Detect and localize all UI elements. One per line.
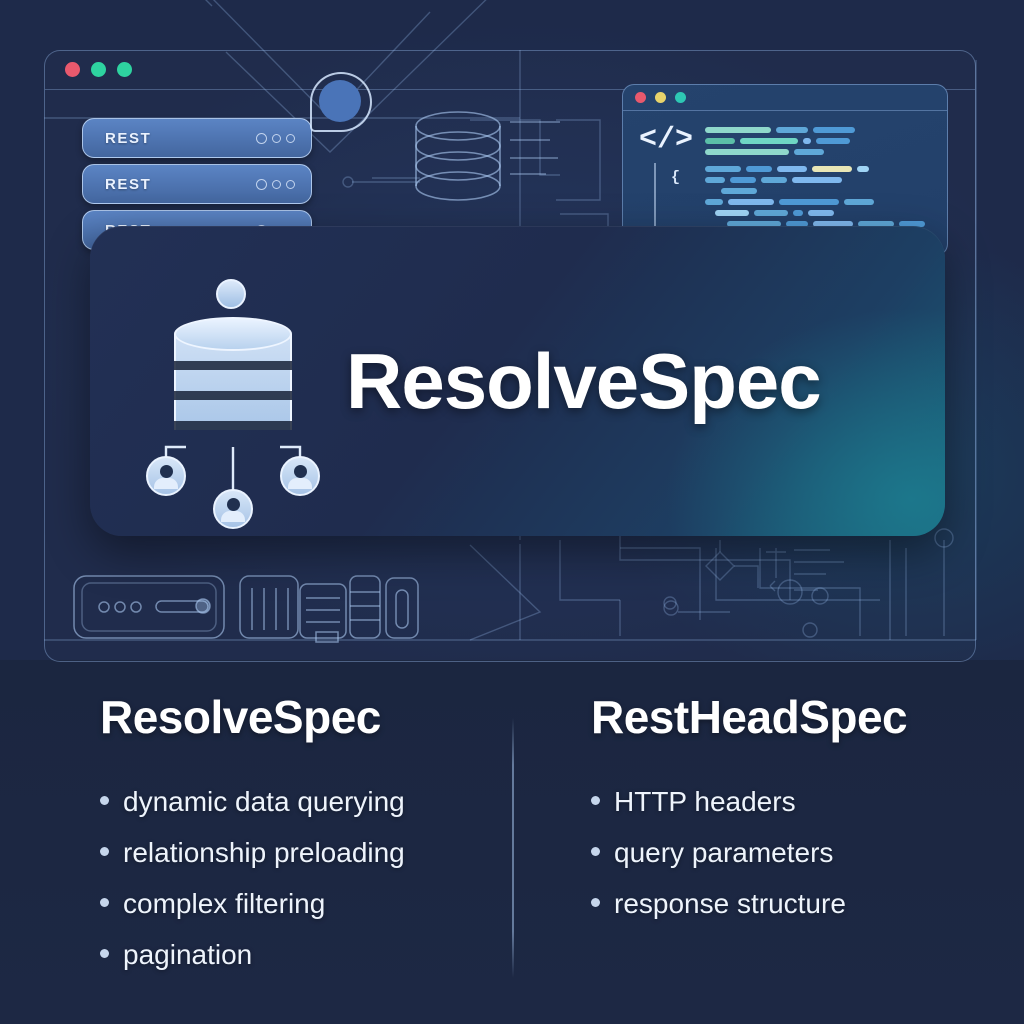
- rest-pill-2[interactable]: REST: [82, 164, 312, 204]
- code-window-titlebar: [623, 85, 947, 111]
- server-rack-wireframe: [72, 572, 432, 662]
- rest-pill-label: REST: [105, 130, 151, 147]
- code-brace-icon: {: [671, 169, 680, 186]
- bullet-icon: [100, 796, 109, 805]
- list-item: dynamic data querying: [100, 786, 533, 818]
- code-line: [715, 210, 937, 216]
- cylinder-band: [174, 361, 292, 370]
- minimize-button-dot[interactable]: [655, 92, 666, 103]
- maximize-button-dot[interactable]: [675, 92, 686, 103]
- user-node-icon: [146, 456, 186, 496]
- feature-list-left: dynamic data querying relationship prelo…: [100, 786, 533, 971]
- code-line: [705, 166, 937, 172]
- close-button-dot[interactable]: [65, 62, 80, 77]
- column-heading-right: RestHeadSpec: [591, 690, 1024, 744]
- list-item: complex filtering: [100, 888, 533, 920]
- bullet-icon: [591, 796, 600, 805]
- feature-label: complex filtering: [123, 888, 325, 920]
- close-button-dot[interactable]: [635, 92, 646, 103]
- cylinder-top-disc: [174, 317, 292, 351]
- column-heading-left: ResolveSpec: [100, 690, 533, 744]
- rest-pill-icons: [256, 179, 295, 190]
- circle-icon: [256, 179, 267, 190]
- page-title: ResolveSpec: [346, 342, 821, 420]
- feature-column-restheadspec: RestHeadSpec HTTP headers query paramete…: [533, 690, 1024, 1024]
- chat-bubble-icon: [310, 72, 372, 132]
- logo-top-node: [216, 279, 246, 309]
- database-network-logo: [112, 251, 352, 511]
- list-item: pagination: [100, 939, 533, 971]
- feature-label: pagination: [123, 939, 252, 971]
- bullet-icon: [100, 949, 109, 958]
- database-cylinder-icon: [174, 317, 292, 447]
- crescent-icon: [272, 180, 281, 189]
- feature-label: query parameters: [614, 837, 833, 869]
- feature-label: response structure: [614, 888, 846, 920]
- user-node-icon: [213, 489, 253, 529]
- hero-illustration: REST REST REST: [0, 0, 1024, 680]
- maximize-button-dot[interactable]: [117, 62, 132, 77]
- code-line: [705, 138, 937, 144]
- circle-icon: [286, 180, 295, 189]
- circle-icon: [256, 133, 267, 144]
- code-tag-icon: </>: [639, 125, 693, 155]
- bullet-icon: [591, 847, 600, 856]
- rest-pill-label: REST: [105, 176, 151, 193]
- cylinder-band: [174, 391, 292, 400]
- rest-pill-icons: [256, 133, 295, 144]
- feature-label: HTTP headers: [614, 786, 796, 818]
- bullet-icon: [591, 898, 600, 907]
- feature-label: dynamic data querying: [123, 786, 405, 818]
- feature-column-resolvespec: ResolveSpec dynamic data querying relati…: [0, 690, 533, 1024]
- bullet-icon: [100, 898, 109, 907]
- feature-label: relationship preloading: [123, 837, 405, 869]
- list-item: query parameters: [591, 837, 1024, 869]
- feature-list-right: HTTP headers query parameters response s…: [591, 786, 1024, 920]
- circle-icon: [272, 134, 281, 143]
- product-hero-card: ResolveSpec: [90, 226, 945, 536]
- list-item: HTTP headers: [591, 786, 1024, 818]
- list-item: relationship preloading: [100, 837, 533, 869]
- bullet-icon: [100, 847, 109, 856]
- window-traffic-lights[interactable]: [65, 62, 132, 77]
- code-line: [705, 149, 937, 155]
- circle-icon: [286, 134, 295, 143]
- code-line: [705, 177, 937, 183]
- user-node-icon: [280, 456, 320, 496]
- code-line: [721, 188, 937, 194]
- code-line: [705, 127, 937, 133]
- rest-pill-1[interactable]: REST: [82, 118, 312, 158]
- chat-bubble-fill: [319, 80, 361, 122]
- minimize-button-dot[interactable]: [91, 62, 106, 77]
- cylinder-band: [174, 421, 292, 430]
- feature-columns: ResolveSpec dynamic data querying relati…: [0, 690, 1024, 1024]
- code-line: [705, 199, 937, 205]
- list-item: response structure: [591, 888, 1024, 920]
